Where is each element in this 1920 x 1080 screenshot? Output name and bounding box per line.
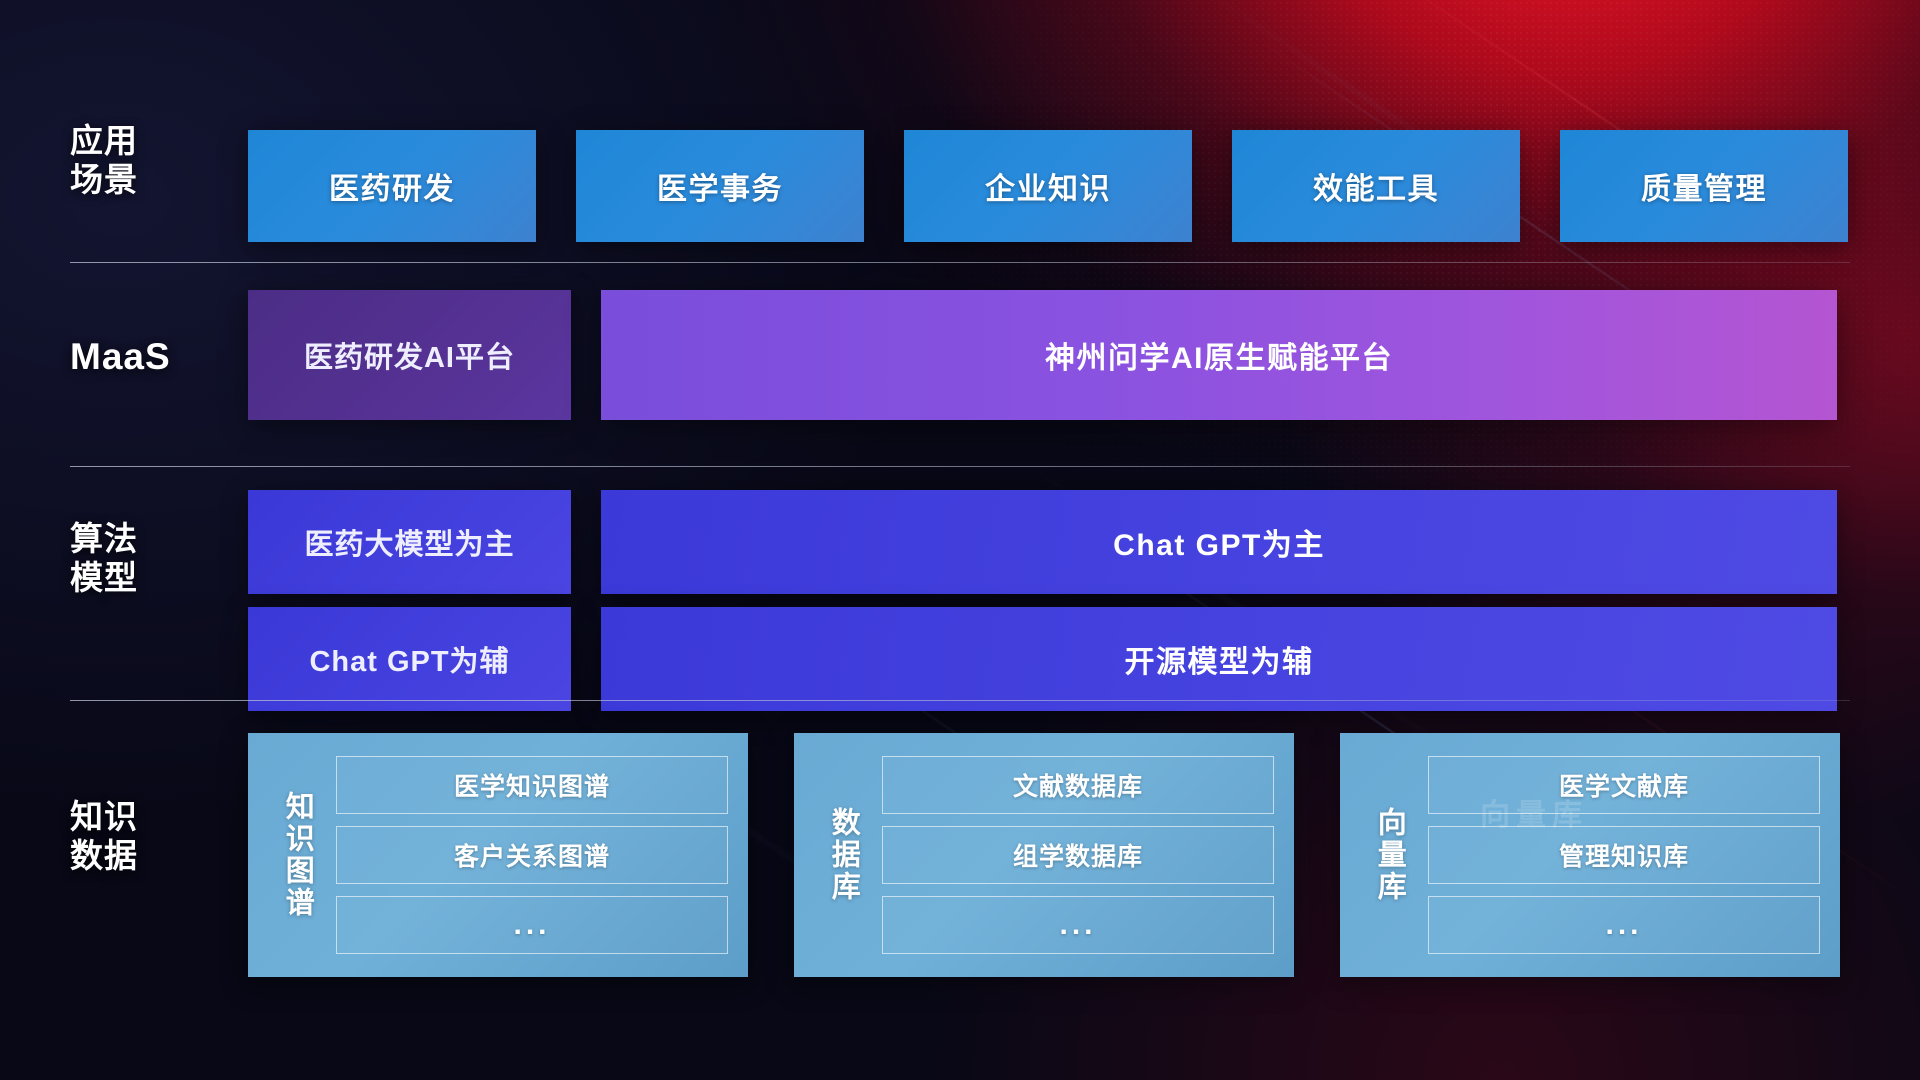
maas-box-shenzhou-wenxue-platform[interactable]: 神州问学AI原生赋能平台: [601, 290, 1837, 420]
scenario-label: 医药研发: [329, 164, 455, 208]
algo-box-drug-large-model-primary[interactable]: 医药大模型为主: [248, 490, 571, 594]
knowledge-item[interactable]: 客户关系图谱: [336, 826, 728, 884]
algo-label: Chat GPT为主: [1113, 520, 1325, 564]
algo-label: 医药大模型为主: [304, 521, 514, 563]
maas-left-label: 医药研发AI平台: [304, 334, 515, 376]
row-label-line: 应用: [70, 122, 220, 161]
row-label-line: 数据: [70, 837, 220, 876]
row-label-line: MaaS: [70, 335, 220, 379]
row-label-line: 算法: [70, 520, 220, 559]
scenario-box-efficiency-tools[interactable]: 效能工具: [1232, 130, 1520, 242]
algo-box-opensource-secondary[interactable]: 开源模型为辅: [601, 607, 1837, 711]
scenario-box-enterprise-knowledge[interactable]: 企业知识: [904, 130, 1192, 242]
divider-after-algorithms: [70, 700, 1850, 701]
algo-label: 开源模型为辅: [1125, 637, 1314, 681]
knowledge-item[interactable]: 文献数据库: [882, 756, 1274, 814]
knowledge-panel-vector-store[interactable]: 向量库 医学文献库 管理知识库 ...: [1340, 733, 1840, 977]
scenario-label: 医学事务: [657, 164, 783, 208]
divider-after-maas: [70, 466, 1850, 467]
knowledge-item-more[interactable]: ...: [336, 896, 728, 954]
knowledge-item[interactable]: 管理知识库: [1428, 826, 1820, 884]
knowledge-item-more[interactable]: ...: [882, 896, 1274, 954]
knowledge-item[interactable]: 医学知识图谱: [336, 756, 728, 814]
row-label-maas: MaaS: [70, 335, 220, 379]
row-label-line: 知识: [70, 798, 220, 837]
scenario-box-medical-affairs[interactable]: 医学事务: [576, 130, 864, 242]
scenario-label: 质量管理: [1641, 164, 1767, 208]
scenario-label: 企业知识: [985, 164, 1111, 208]
maas-box-drug-rnd-ai-platform[interactable]: 医药研发AI平台: [248, 290, 571, 420]
row-label-application-scenarios: 应用 场景: [70, 122, 220, 200]
knowledge-panel-vertical-label: 向量库: [1350, 747, 1428, 963]
knowledge-panel-group: 知识图谱 医学知识图谱 客户关系图谱 ... 数据库 文献数据库 组学数据库 .…: [248, 733, 1840, 977]
divider-after-scenarios: [70, 262, 1850, 263]
knowledge-item[interactable]: 组学数据库: [882, 826, 1274, 884]
knowledge-item-list: 医学文献库 管理知识库 ...: [1428, 747, 1826, 963]
knowledge-panel-vertical-label: 知识图谱: [258, 747, 336, 963]
knowledge-item-list: 文献数据库 组学数据库 ...: [882, 747, 1280, 963]
row-label-knowledge-data: 知识 数据: [70, 798, 220, 876]
row-label-algorithm-models: 算法 模型: [70, 520, 220, 598]
maas-right-label: 神州问学AI原生赋能平台: [1045, 333, 1393, 377]
knowledge-panel-knowledge-graph[interactable]: 知识图谱 医学知识图谱 客户关系图谱 ...: [248, 733, 748, 977]
row-label-line: 场景: [70, 161, 220, 200]
knowledge-item-more[interactable]: ...: [1428, 896, 1820, 954]
knowledge-item[interactable]: 医学文献库: [1428, 756, 1820, 814]
scenario-box-group: 医药研发 医学事务 企业知识 效能工具 质量管理: [248, 130, 1848, 242]
scenario-label: 效能工具: [1313, 164, 1439, 208]
row-label-line: 模型: [70, 559, 220, 598]
algo-label: Chat GPT为辅: [309, 638, 509, 680]
algo-box-chatgpt-secondary[interactable]: Chat GPT为辅: [248, 607, 571, 711]
scenario-box-quality-management[interactable]: 质量管理: [1560, 130, 1848, 242]
knowledge-item-list: 医学知识图谱 客户关系图谱 ...: [336, 747, 734, 963]
algo-box-chatgpt-primary[interactable]: Chat GPT为主: [601, 490, 1837, 594]
architecture-diagram-canvas: 应用 场景 医药研发 医学事务 企业知识 效能工具 质量管理 MaaS: [0, 0, 1920, 1080]
knowledge-panel-vertical-label: 数据库: [804, 747, 882, 963]
knowledge-panel-database[interactable]: 数据库 文献数据库 组学数据库 ...: [794, 733, 1294, 977]
scenario-box-drug-rnd[interactable]: 医药研发: [248, 130, 536, 242]
